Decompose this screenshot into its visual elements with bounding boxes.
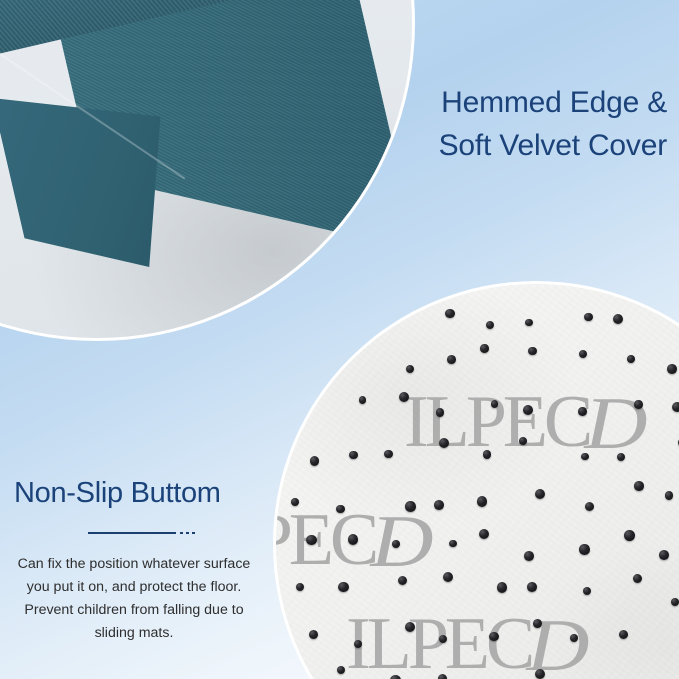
divider-dots: [180, 532, 195, 534]
mat-wordmark: ILPECD: [346, 602, 581, 679]
mat-dot: [336, 505, 345, 514]
mat-dot: [672, 402, 679, 413]
divider-dot: [180, 532, 183, 534]
mat-dot: [445, 309, 455, 319]
feature-description-line: Can fix the position whatever surface: [14, 553, 254, 576]
mat-dot: [438, 674, 447, 679]
mat-dot: [527, 582, 537, 592]
mat-dot: [519, 437, 527, 445]
mat-dot: [578, 407, 586, 415]
mat-dot: [627, 355, 635, 363]
mat-wordmark-swash: D: [585, 382, 643, 467]
feature-divider: [0, 521, 268, 545]
mat-dot: [390, 675, 401, 679]
heading-line-1: Hemmed Edge &: [247, 82, 667, 125]
mat-dot: [659, 550, 669, 560]
mat-dot: [405, 622, 415, 632]
mat-dot: [665, 491, 674, 500]
mat-wordmark: ILPECD: [404, 380, 639, 465]
mat-dot: [434, 500, 444, 510]
mat-dot: [392, 540, 400, 548]
mat-dot: [480, 344, 488, 352]
mat-dot: [579, 544, 590, 555]
mat-dot: [634, 481, 643, 490]
mat-dot: [338, 582, 348, 592]
divider-dot: [186, 532, 189, 534]
feature-block-non-slip: Non-Slip Buttom Can fix the position wha…: [0, 476, 268, 645]
feature-title: Non-Slip Buttom: [0, 476, 268, 511]
mat-dot: [306, 535, 317, 546]
mat-dot: [667, 364, 677, 374]
mat-dot: [533, 619, 542, 628]
divider-dot: [192, 532, 195, 534]
mat-dot: [613, 314, 623, 324]
mat-dot: [489, 632, 499, 642]
mat-dot: [354, 640, 362, 648]
mat-dot: [570, 634, 578, 642]
mat-dot: [617, 453, 625, 461]
feature-description: Can fix the position whatever surface yo…: [0, 553, 268, 645]
mat-dot: [634, 400, 642, 408]
heading-line-2: Soft Velvet Cover: [247, 125, 667, 168]
mat-dot: [528, 347, 536, 355]
mat-dot: [624, 530, 635, 541]
product-infographic: Hemmed Edge & Soft Velvet Cover ILPECDIL…: [0, 0, 679, 679]
mat-dot: [479, 529, 489, 539]
mat-dot: [447, 355, 456, 364]
mat-dot: [524, 551, 534, 561]
mat-dot: [523, 405, 533, 415]
mat-wordmark-swash: D: [371, 500, 429, 585]
mat-dot: [477, 496, 487, 506]
divider-line: [88, 532, 176, 534]
mat-dot: [399, 392, 409, 402]
mat-wordmark-swash: D: [527, 604, 585, 679]
mat-dot: [581, 453, 589, 461]
mat-dot: [349, 451, 358, 460]
feature-description-line: sliding mats.: [14, 622, 254, 645]
mat-dot: [525, 319, 533, 327]
heading-hemmed-edge: Hemmed Edge & Soft Velvet Cover: [247, 82, 667, 167]
mat-dot: [671, 598, 679, 606]
mat-dot: [579, 350, 587, 358]
mat-dot: [405, 501, 416, 512]
mat-dot: [449, 540, 457, 548]
mat-dot: [348, 534, 359, 545]
feature-description-line: Prevent children from falling due to: [14, 599, 254, 622]
mat-photo-circle: ILPECDILPECDILPECD: [276, 284, 679, 679]
feature-description-line: you put it on, and protect the floor.: [14, 576, 254, 599]
mat-dot: [443, 572, 453, 582]
mat-dot: [291, 498, 299, 506]
mat-dot: [436, 408, 444, 416]
mat-dot: [497, 582, 508, 593]
